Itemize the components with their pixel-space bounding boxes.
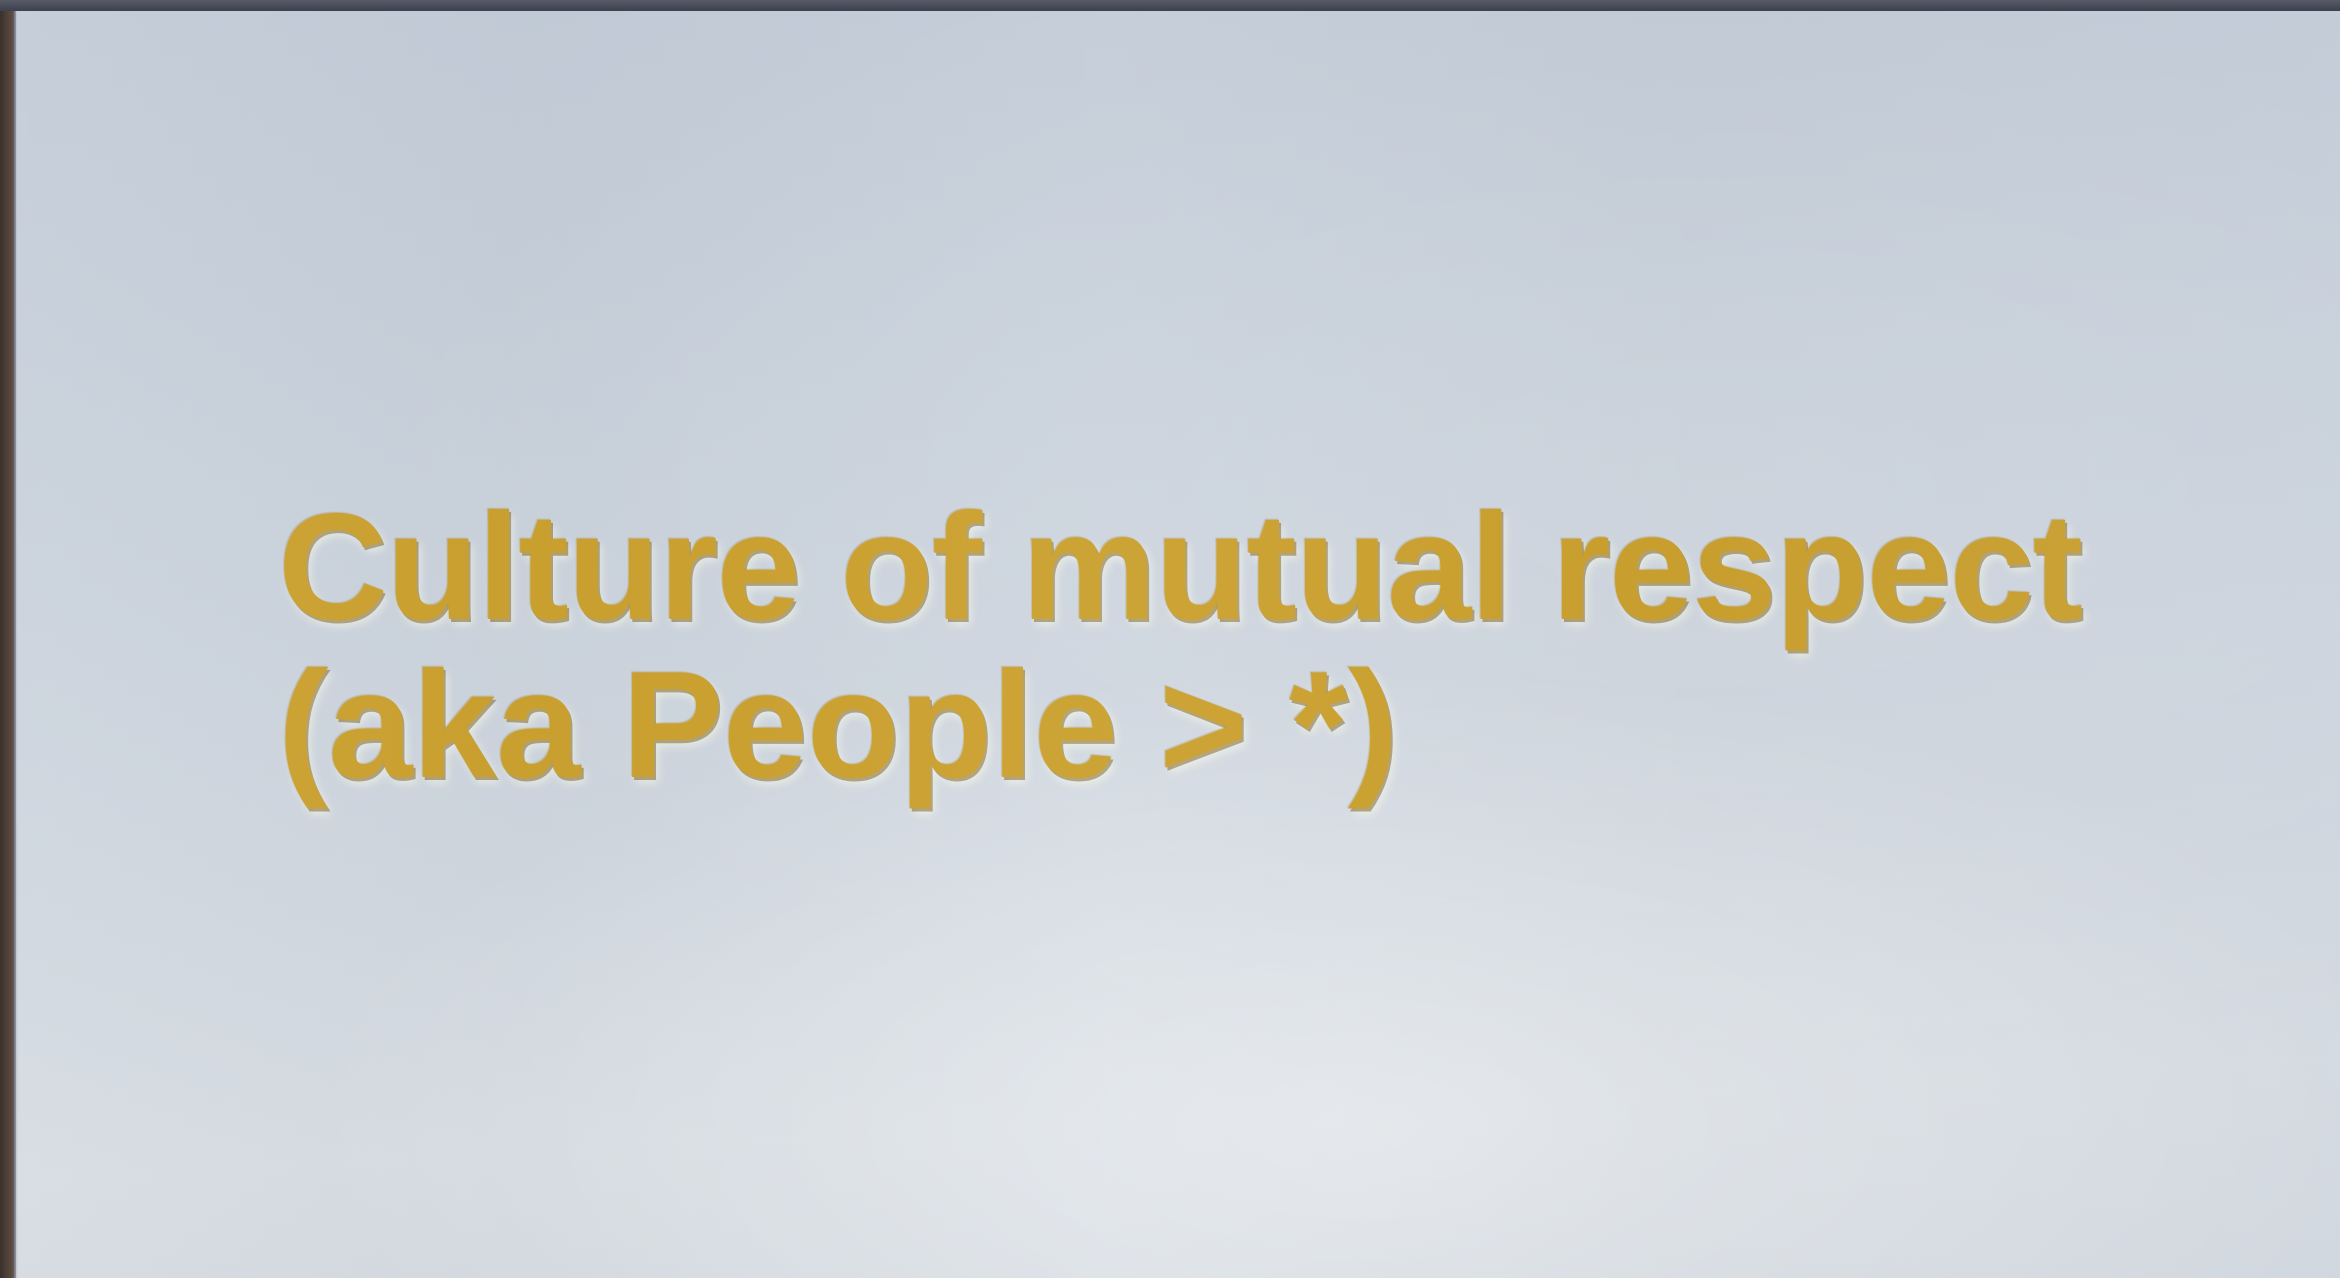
screenshot-root: Culture of mutual respect (aka People > …: [0, 0, 2340, 1278]
screen-bezel-top: [0, 0, 2340, 11]
slide-title-line-2: (aka People > *): [278, 646, 2178, 804]
slide-title-block: Culture of mutual respect (aka People > …: [278, 488, 2178, 804]
slide-title-line-1: Culture of mutual respect: [278, 488, 2178, 646]
screen-bezel-left-highlight: [14, 11, 19, 1278]
projection-screen: Culture of mutual respect (aka People > …: [16, 10, 2340, 1278]
